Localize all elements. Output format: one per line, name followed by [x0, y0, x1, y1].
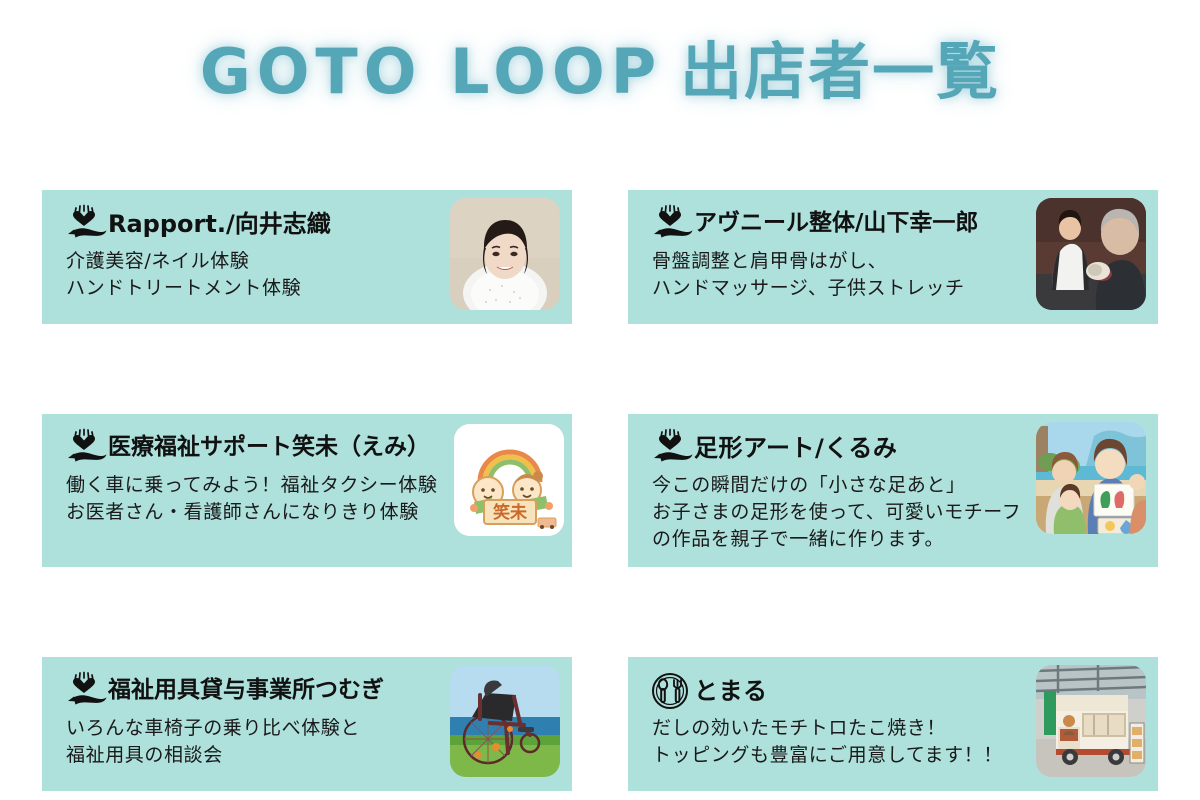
- card-description: 今この瞬間だけの「小さな足あと」 お子さまの足形を使って、可愛いモチーフ の作品…: [652, 472, 1142, 553]
- exhibitor-card[interactable]: 福祉用具貸与事業所つむぎ いろんな車椅子の乗り比べ体験と 福祉用具の相談会: [42, 657, 572, 791]
- exhibitor-card[interactable]: アヴニール整体/山下幸一郎 骨盤調整と肩甲骨はがし、 ハンドマッサージ、子供スト…: [628, 190, 1158, 324]
- heart-in-hand-icon: [648, 204, 694, 244]
- page-title: GOTO LOOP出店者一覧: [0, 38, 1200, 106]
- card-description-line: 福祉用具の相談会: [66, 742, 556, 769]
- card-description-line: の作品を親子で一緒に作ります。: [652, 526, 1142, 553]
- card-description-line: ハンドマッサージ、子供ストレッチ: [652, 275, 1142, 302]
- card-description: 骨盤調整と肩甲骨はがし、 ハンドマッサージ、子供ストレッチ: [652, 248, 1142, 302]
- card-title: 足形アート/くるみ: [694, 434, 897, 462]
- card-description-line: トッピングも豊富にご用意してます！！: [652, 742, 1142, 769]
- exhibitor-card[interactable]: 足形アート/くるみ 今この瞬間だけの「小さな足あと」 お子さまの足形を使って、可…: [628, 414, 1158, 567]
- card-description: いろんな車椅子の乗り比べ体験と 福祉用具の相談会: [66, 715, 556, 769]
- exhibitor-card[interactable]: 医療福祉サポート笑未（えみ） 働く車に乗ってみよう！福祉タクシー体験 お医者さん…: [42, 414, 572, 567]
- plate-cutlery-icon: [648, 671, 694, 711]
- card-description-line: だしの効いたモチトロたこ焼き！: [652, 715, 1142, 742]
- page-title-latin: GOTO LOOP: [200, 35, 662, 108]
- card-title: とまる: [694, 677, 768, 705]
- card-description-line: 働く車に乗ってみよう！福祉タクシー体験: [66, 472, 556, 499]
- card-title: アヴニール整体/山下幸一郎: [694, 210, 978, 237]
- card-description-line: 骨盤調整と肩甲骨はがし、: [652, 248, 1142, 275]
- card-title: 福祉用具貸与事業所つむぎ: [108, 677, 384, 704]
- page-title-japanese: 出店者一覧: [680, 35, 1000, 108]
- heart-in-hand-icon: [62, 428, 108, 468]
- heart-in-hand-icon: [648, 428, 694, 468]
- exhibitor-card[interactable]: Rapport./向井志織 介護美容/ネイル体験 ハンドトリートメント体験: [42, 190, 572, 324]
- card-description-line: ハンドトリートメント体験: [66, 275, 556, 302]
- exhibitor-card[interactable]: とまる だしの効いたモチトロたこ焼き！ トッピングも豊富にご用意してます！！: [628, 657, 1158, 791]
- card-description-line: お子さまの足形を使って、可愛いモチーフ: [652, 499, 1142, 526]
- card-title: 医療福祉サポート笑未（えみ）: [108, 434, 430, 461]
- card-description: 働く車に乗ってみよう！福祉タクシー体験 お医者さん・看護師さんになりきり体験: [66, 472, 556, 526]
- heart-in-hand-icon: [62, 204, 108, 244]
- exhibitor-card-grid: Rapport./向井志織 介護美容/ネイル体験 ハンドトリートメント体験: [42, 190, 1158, 791]
- card-description-line: いろんな車椅子の乗り比べ体験と: [66, 715, 556, 742]
- card-title: Rapport./向井志織: [108, 210, 331, 238]
- card-description: 介護美容/ネイル体験 ハンドトリートメント体験: [66, 248, 556, 302]
- heart-in-hand-icon: [62, 671, 108, 711]
- card-description-line: 今この瞬間だけの「小さな足あと」: [652, 472, 1142, 499]
- card-description: だしの効いたモチトロたこ焼き！ トッピングも豊富にご用意してます！！: [652, 715, 1142, 769]
- card-description-line: 介護美容/ネイル体験: [66, 248, 556, 275]
- card-description-line: お医者さん・看護師さんになりきり体験: [66, 499, 556, 526]
